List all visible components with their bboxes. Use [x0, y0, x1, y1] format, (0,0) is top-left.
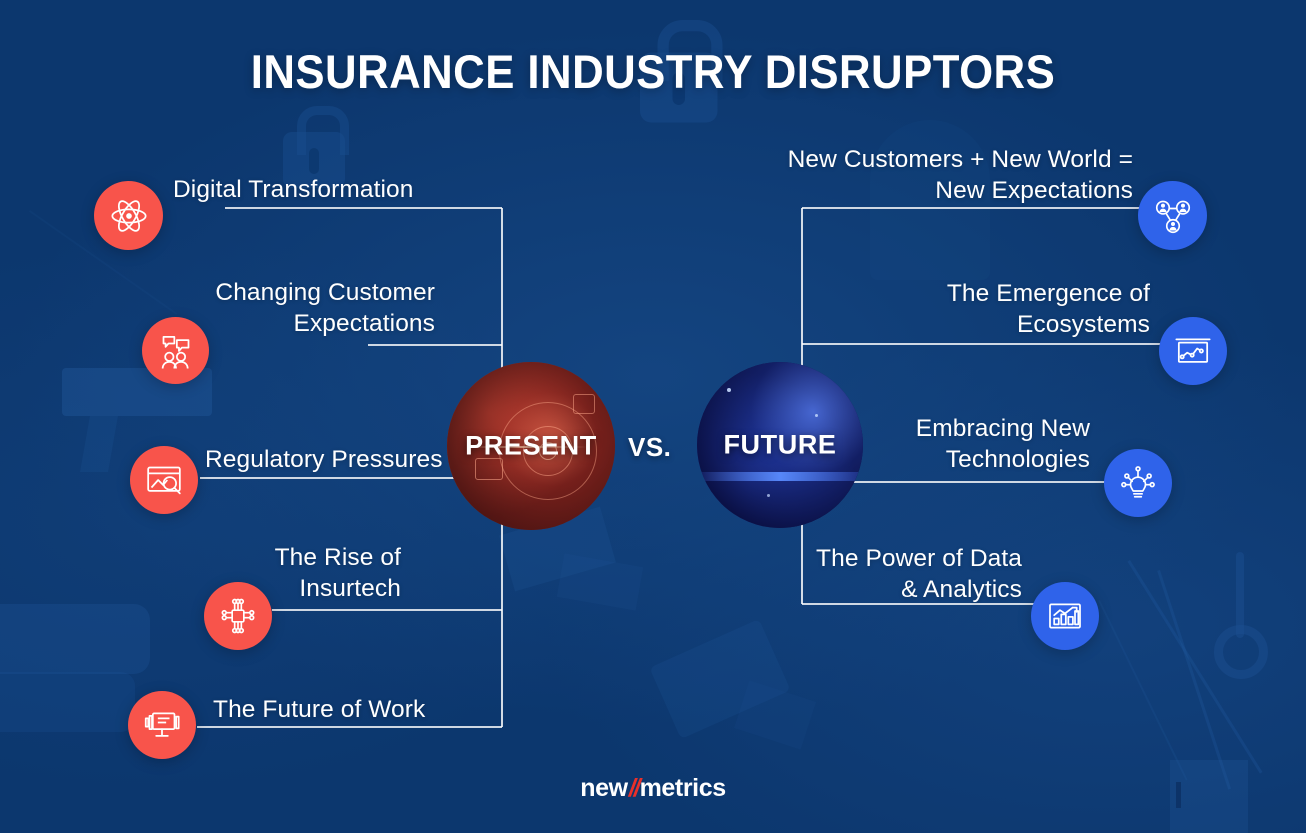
left-item-label-1: Digital Transformation: [173, 174, 503, 205]
atom-icon: [109, 196, 149, 236]
right-item-label-2: The Emergence of Ecosystems: [830, 278, 1150, 340]
microchip-icon: [218, 596, 258, 636]
right-item-label-1-line2: New Expectations: [700, 175, 1133, 206]
right-item-label-2-line2: Ecosystems: [830, 309, 1150, 340]
background-decoration: [0, 0, 1306, 833]
present-hub[interactable]: PRESENT: [447, 362, 615, 530]
left-item-label-5: The Future of Work: [213, 694, 543, 725]
present-hud-box-b: [573, 394, 595, 414]
future-star-a: [727, 388, 731, 392]
line-chart-icon: [1173, 331, 1213, 371]
right-connector-2: [802, 343, 1162, 345]
right-item-label-1-line1: New Customers + New World =: [700, 144, 1133, 175]
future-star-c: [767, 494, 770, 497]
customer-feedback-icon: [156, 331, 196, 371]
future-hub[interactable]: FUTURE: [697, 362, 863, 528]
document-search-icon: [144, 460, 184, 500]
infographic-canvas: INSURANCE INDUSTRY DISRUPTORS Digital Tr…: [0, 0, 1306, 833]
left-connector-1: [225, 207, 502, 209]
vs-label: VS.: [628, 432, 671, 463]
desktop-workstation-icon: [142, 705, 182, 745]
left-connector-2: [368, 344, 502, 346]
background-rect-d: [0, 672, 135, 732]
logo-text-first: new: [580, 774, 627, 802]
left-item-label-4-line2: Insurtech: [160, 573, 401, 604]
future-star-b: [815, 414, 818, 417]
newmetrics-logo[interactable]: new//metrics: [0, 774, 1306, 803]
right-item-label-4-line1: The Power of Data: [730, 543, 1022, 574]
present-hub-label: PRESENT: [447, 431, 615, 462]
left-item-label-2-line1: Changing Customer: [170, 277, 435, 308]
thermometer-stem-watermark: [1236, 552, 1244, 638]
right-item-label-2-line1: The Emergence of: [830, 278, 1150, 309]
right-item-icon-4[interactable]: [1031, 582, 1099, 650]
people-network-icon: [1153, 196, 1193, 236]
background-rect-c: [0, 604, 150, 674]
right-item-icon-1[interactable]: [1138, 181, 1207, 250]
right-item-icon-3[interactable]: [1104, 449, 1172, 517]
right-connector-1: [802, 207, 1142, 209]
left-item-icon-1[interactable]: [94, 181, 163, 250]
lightbulb-circuit-icon: [1118, 463, 1158, 503]
left-item-icon-2[interactable]: [142, 317, 209, 384]
future-horizon-streak: [697, 472, 863, 481]
left-connector-4: [272, 609, 502, 611]
left-item-label-4-line1: The Rise of: [160, 542, 401, 573]
right-item-icon-2[interactable]: [1159, 317, 1227, 385]
left-item-icon-3[interactable]: [130, 446, 198, 514]
left-item-label-2-line2: Expectations: [170, 308, 435, 339]
logo-slash-icon: //: [628, 774, 640, 802]
logo-text-second: metrics: [640, 774, 726, 802]
left-item-label-2: Changing Customer Expectations: [170, 277, 435, 339]
right-item-label-4-line2: & Analytics: [730, 574, 1022, 605]
right-item-label-1: New Customers + New World = New Expectat…: [700, 144, 1133, 206]
left-connector-5: [197, 726, 502, 728]
right-item-label-4: The Power of Data & Analytics: [730, 543, 1022, 605]
page-title: INSURANCE INDUSTRY DISRUPTORS: [46, 44, 1261, 99]
left-item-label-4: The Rise of Insurtech: [160, 542, 401, 604]
future-hub-label: FUTURE: [697, 430, 863, 461]
left-item-icon-4[interactable]: [204, 582, 272, 650]
background-vignette: [0, 0, 1306, 833]
left-item-icon-5[interactable]: [128, 691, 196, 759]
bar-chart-icon: [1045, 596, 1085, 636]
